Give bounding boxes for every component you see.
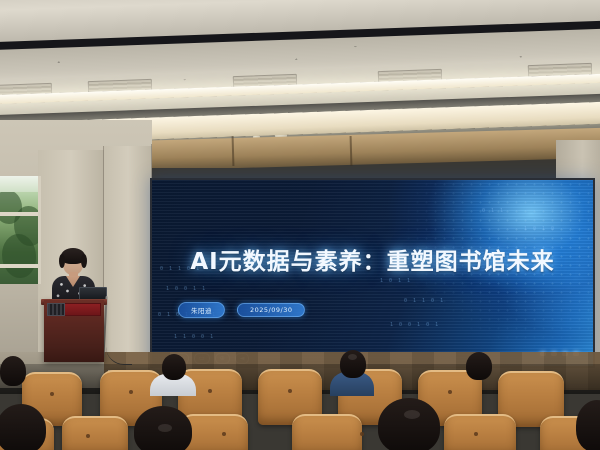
- presenter-hair-side: [81, 254, 87, 268]
- seat[interactable]: [292, 414, 362, 450]
- exterior-window: [0, 176, 41, 284]
- slide-badge-group: 朱阳迪 2025/09/30: [178, 302, 305, 318]
- screen-digit-decor: 0 1 1 0 1: [404, 298, 445, 304]
- screen-digit-decor: 1 0 0 1 0 1: [390, 322, 440, 328]
- presenter-hair-side: [59, 254, 65, 268]
- presentation-screen[interactable]: 0 1 1 0 1 0 1 0 0 1 1 0 1 0 1 1 0 1 1 1 …: [152, 180, 593, 366]
- speaker-name-badge: 朱阳迪: [178, 302, 225, 318]
- seat-fastener: [86, 434, 90, 438]
- attendee-head: [162, 354, 186, 380]
- seat-fastener: [222, 432, 226, 436]
- attendee-head-highlight: [404, 410, 420, 419]
- seat-fastener: [208, 389, 212, 393]
- seat-fastener: [448, 390, 452, 394]
- screen-digit-decor: 1 1 0 0 1: [174, 334, 215, 340]
- attendee-head: [378, 398, 440, 450]
- attendee-head-highlight: [348, 354, 357, 360]
- attendee-head: [0, 356, 26, 386]
- seat-fastener: [288, 389, 292, 393]
- attendee-head: [576, 400, 600, 450]
- screen-digit-decor: 0 1 1: [482, 208, 505, 214]
- screen-digit-decor: 1 0 0 1 1: [166, 286, 207, 292]
- podium-control-panel[interactable]: [47, 303, 65, 316]
- screen-digit-decor: 1 0 1 1: [380, 278, 412, 284]
- seat[interactable]: [62, 416, 128, 450]
- date-badge: 2025/09/30: [237, 303, 305, 317]
- screen-digit-decor: 1 0 1 0: [524, 226, 556, 232]
- tree-foliage: [2, 234, 36, 278]
- window-mullion: [0, 212, 38, 216]
- seat-fastener: [474, 432, 478, 436]
- window-upper-pane: [0, 176, 38, 192]
- seat[interactable]: [444, 414, 516, 450]
- slide-title: AI元数据与素养：重塑图书馆未来: [152, 242, 593, 276]
- seat-fastener: [50, 392, 54, 396]
- seat-fastener: [360, 432, 364, 436]
- led-screen-frame: 0 1 1 0 1 0 1 0 0 1 1 0 1 0 1 1 0 1 1 1 …: [150, 178, 595, 368]
- attendee-head: [0, 404, 46, 450]
- window-mullion: [0, 264, 38, 268]
- seat-fastener: [129, 390, 133, 394]
- attendee-head: [466, 352, 492, 380]
- attendee-head-highlight: [158, 424, 172, 432]
- auditorium-scene: 0 1 1 0 1 0 1 0 0 1 1 0 1 0 1 1 0 1 1 1 …: [0, 0, 600, 450]
